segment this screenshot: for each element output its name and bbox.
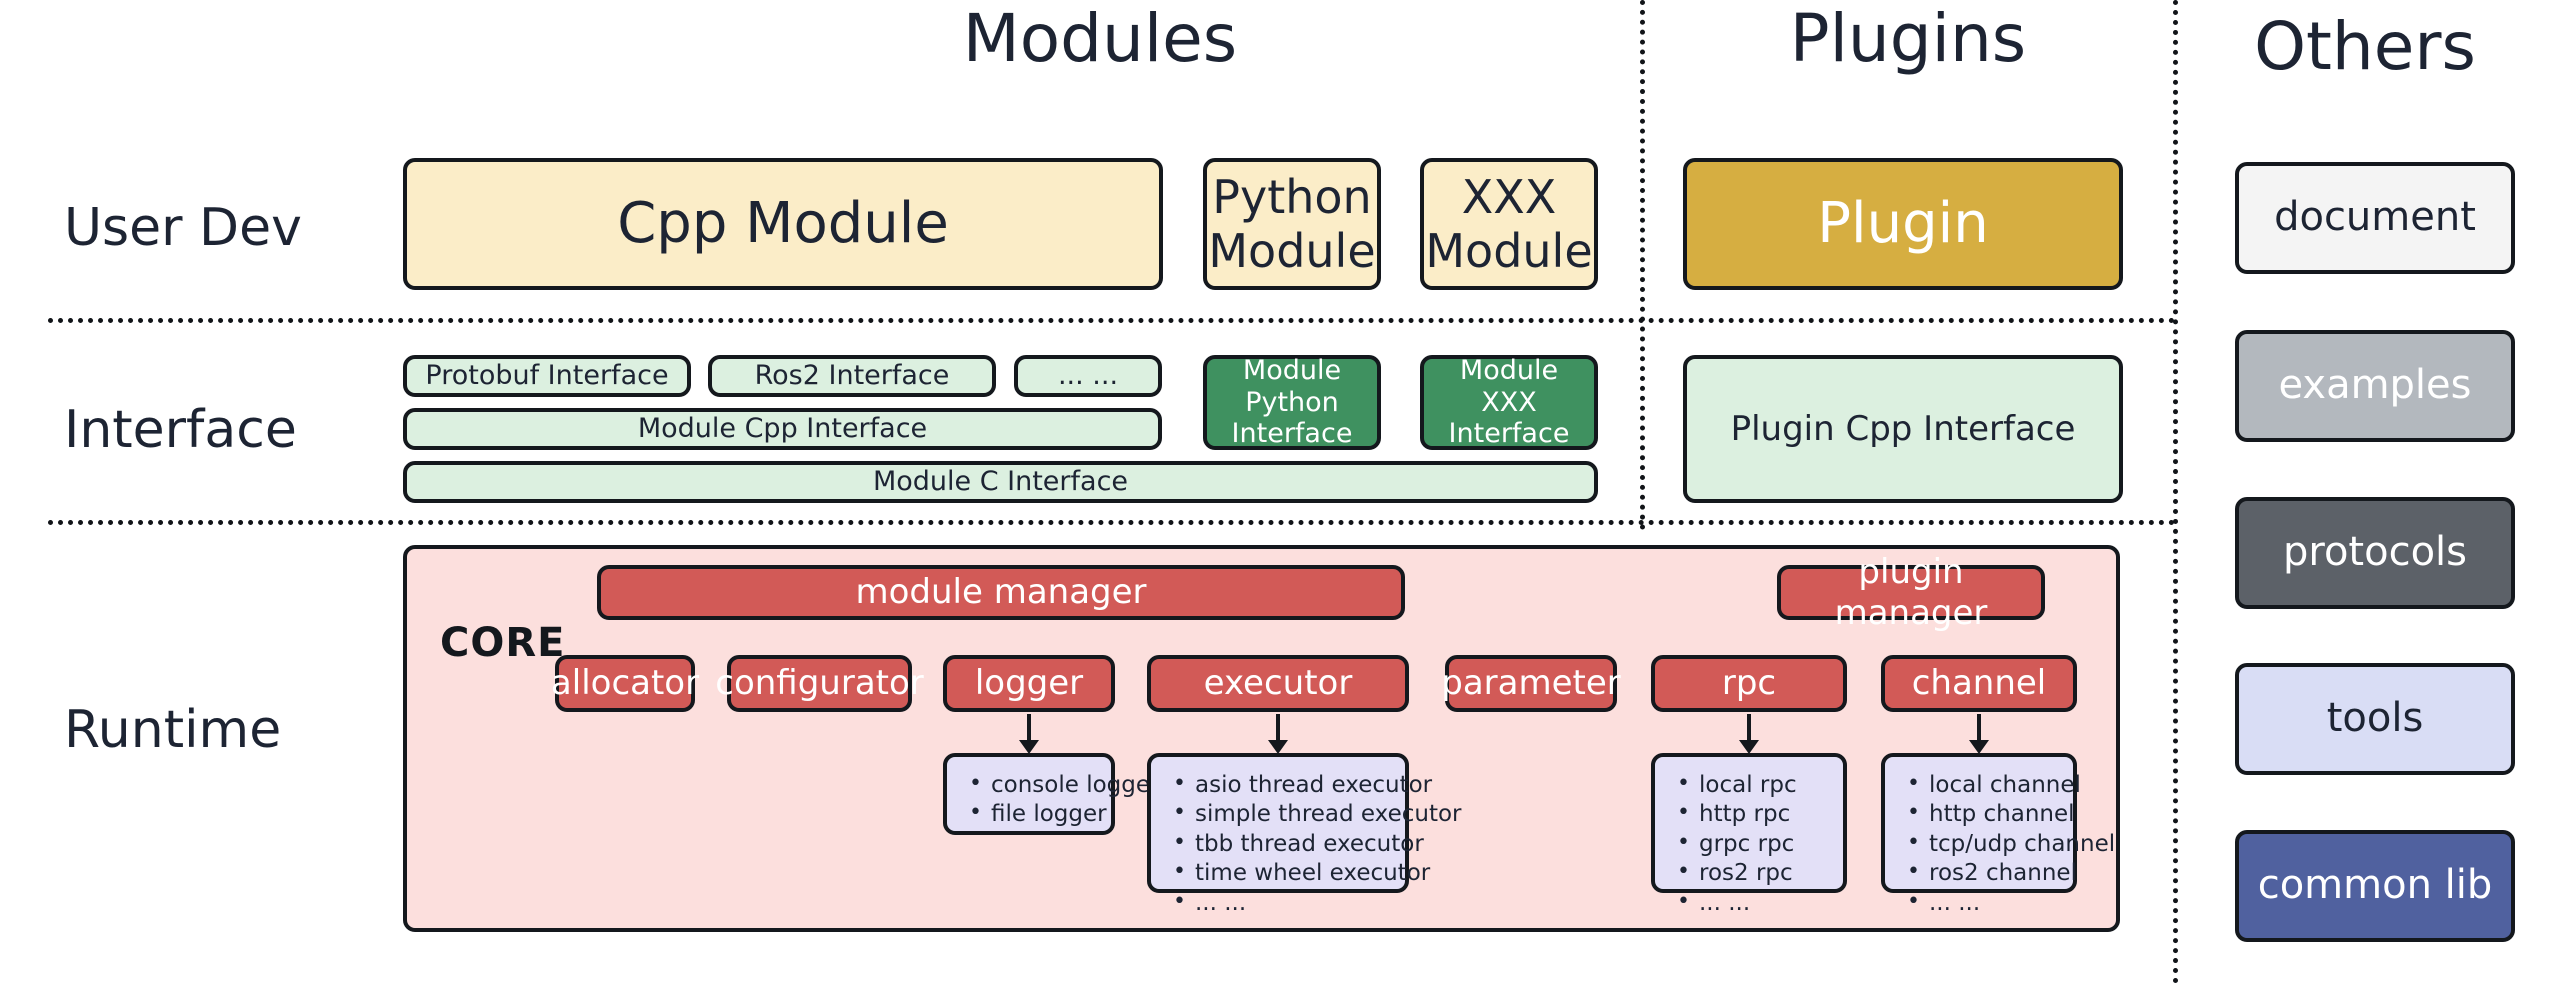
others-document-label: document [2274,194,2476,241]
plugin-box[interactable]: Plugin [1683,158,2123,290]
list-item: asio thread executor [1195,771,1395,800]
core-label: CORE [440,620,565,666]
plugin-cpp-interface-label: Plugin Cpp Interface [1731,409,2076,449]
more-interface-box[interactable]: ... ... [1014,355,1162,397]
list-item: http rpc [1699,800,1833,829]
list-item: ros2 channel [1929,859,2063,888]
channel-arrow-icon [1966,714,1992,754]
list-item: local rpc [1699,771,1833,800]
others-common-lib-box[interactable]: common lib [2235,830,2515,942]
module-xxx-interface-box[interactable]: Module XXX Interface [1420,355,1598,450]
executor-label: executor [1204,663,1353,703]
rpc-detail-list: local rpc http rpc grpc rpc ros2 rpc ...… [1673,771,1833,918]
xxx-module-box[interactable]: XXX Module [1420,158,1598,290]
rpc-label: rpc [1722,663,1776,703]
plugin-manager-label: plugin manager [1781,552,2041,632]
list-item: tbb thread executor [1195,830,1395,859]
list-item: simple thread executor [1195,800,1395,829]
python-module-box[interactable]: Python Module [1203,158,1381,290]
others-protocols-label: protocols [2283,529,2467,576]
channel-detail-box: local channel http channel tcp/udp chann… [1881,753,2077,893]
protobuf-interface-label: Protobuf Interface [425,360,668,392]
column-header-modules: Modules [560,6,1640,72]
list-item: file logger [991,800,1101,829]
list-item: ... ... [1929,889,2063,918]
module-xxx-interface-label-line2: XXX Interface [1424,387,1594,451]
channel-box[interactable]: channel [1881,655,2077,712]
channel-detail-list: local channel http channel tcp/udp chann… [1903,771,2063,918]
vertical-divider-plugins-others [2173,0,2178,984]
others-common-lib-label: common lib [2258,862,2493,909]
rpc-box[interactable]: rpc [1651,655,1847,712]
executor-arrow-icon [1265,714,1291,754]
row-label-user-dev: User Dev [64,198,302,258]
architecture-diagram: Modules Plugins Others User Dev Interfac… [0,0,2560,984]
logger-label: logger [975,663,1083,703]
executor-detail-list: asio thread executor simple thread execu… [1169,771,1395,918]
channel-label: channel [1912,663,2047,703]
ros2-interface-box[interactable]: Ros2 Interface [708,355,996,397]
module-python-interface-box[interactable]: Module Python Interface [1203,355,1381,450]
module-cpp-interface-box[interactable]: Module Cpp Interface [403,408,1162,450]
logger-detail-list: console logger file logger [965,771,1101,830]
rpc-arrow-icon [1736,714,1762,754]
plugin-cpp-interface-box[interactable]: Plugin Cpp Interface [1683,355,2123,503]
others-protocols-box[interactable]: protocols [2235,497,2515,609]
cpp-module-box[interactable]: Cpp Module [403,158,1163,290]
others-examples-label: examples [2278,362,2471,409]
column-header-plugins: Plugins [1650,6,2166,72]
module-xxx-interface-label-line1: Module [1460,355,1558,387]
module-c-interface-box[interactable]: Module C Interface [403,461,1598,503]
allocator-label: allocator [551,663,699,703]
vertical-divider-modules-plugins [1640,0,1645,530]
executor-box[interactable]: executor [1147,655,1409,712]
list-item: ... ... [1699,889,1833,918]
others-tools-label: tools [2327,695,2424,742]
list-item: grpc rpc [1699,830,1833,859]
module-manager-box[interactable]: module manager [597,565,1405,620]
module-cpp-interface-label: Module Cpp Interface [638,413,927,445]
more-interface-label: ... ... [1058,360,1118,392]
xxx-module-label-line1: XXX [1462,170,1557,224]
list-item: console logger [991,771,1101,800]
configurator-box[interactable]: configurator [727,655,912,712]
configurator-label: configurator [715,663,924,703]
logger-box[interactable]: logger [943,655,1115,712]
module-c-interface-label: Module C Interface [873,466,1128,498]
xxx-module-label-line2: Module [1425,224,1592,278]
others-tools-box[interactable]: tools [2235,663,2515,775]
list-item: tcp/udp channel [1929,830,2063,859]
python-module-label-line1: Python [1212,170,1371,224]
row-label-runtime: Runtime [64,700,281,760]
module-python-interface-label-line1: Module [1243,355,1341,387]
cpp-module-label: Cpp Module [617,191,949,257]
others-examples-box[interactable]: examples [2235,330,2515,442]
module-python-interface-label-line2: Python Interface [1207,387,1377,451]
plugin-label: Plugin [1817,191,1988,257]
plugin-manager-box[interactable]: plugin manager [1777,565,2045,620]
horizontal-divider-userdev-interface [48,318,2176,323]
parameter-label: parameter [1441,663,1621,703]
list-item: http channel [1929,800,2063,829]
others-document-box[interactable]: document [2235,162,2515,274]
module-manager-label: module manager [855,572,1146,612]
column-header-others: Others [2180,14,2550,80]
parameter-box[interactable]: parameter [1445,655,1617,712]
ros2-interface-label: Ros2 Interface [755,360,950,392]
logger-detail-box: console logger file logger [943,753,1115,835]
python-module-label-line2: Module [1208,224,1375,278]
logger-arrow-icon [1016,714,1042,754]
list-item: time wheel executor [1195,859,1395,888]
allocator-box[interactable]: allocator [555,655,695,712]
list-item: ... ... [1195,889,1395,918]
row-label-interface: Interface [64,400,297,460]
rpc-detail-box: local rpc http rpc grpc rpc ros2 rpc ...… [1651,753,1847,893]
horizontal-divider-interface-runtime [48,520,2176,525]
protobuf-interface-box[interactable]: Protobuf Interface [403,355,691,397]
executor-detail-box: asio thread executor simple thread execu… [1147,753,1409,893]
list-item: local channel [1929,771,2063,800]
list-item: ros2 rpc [1699,859,1833,888]
